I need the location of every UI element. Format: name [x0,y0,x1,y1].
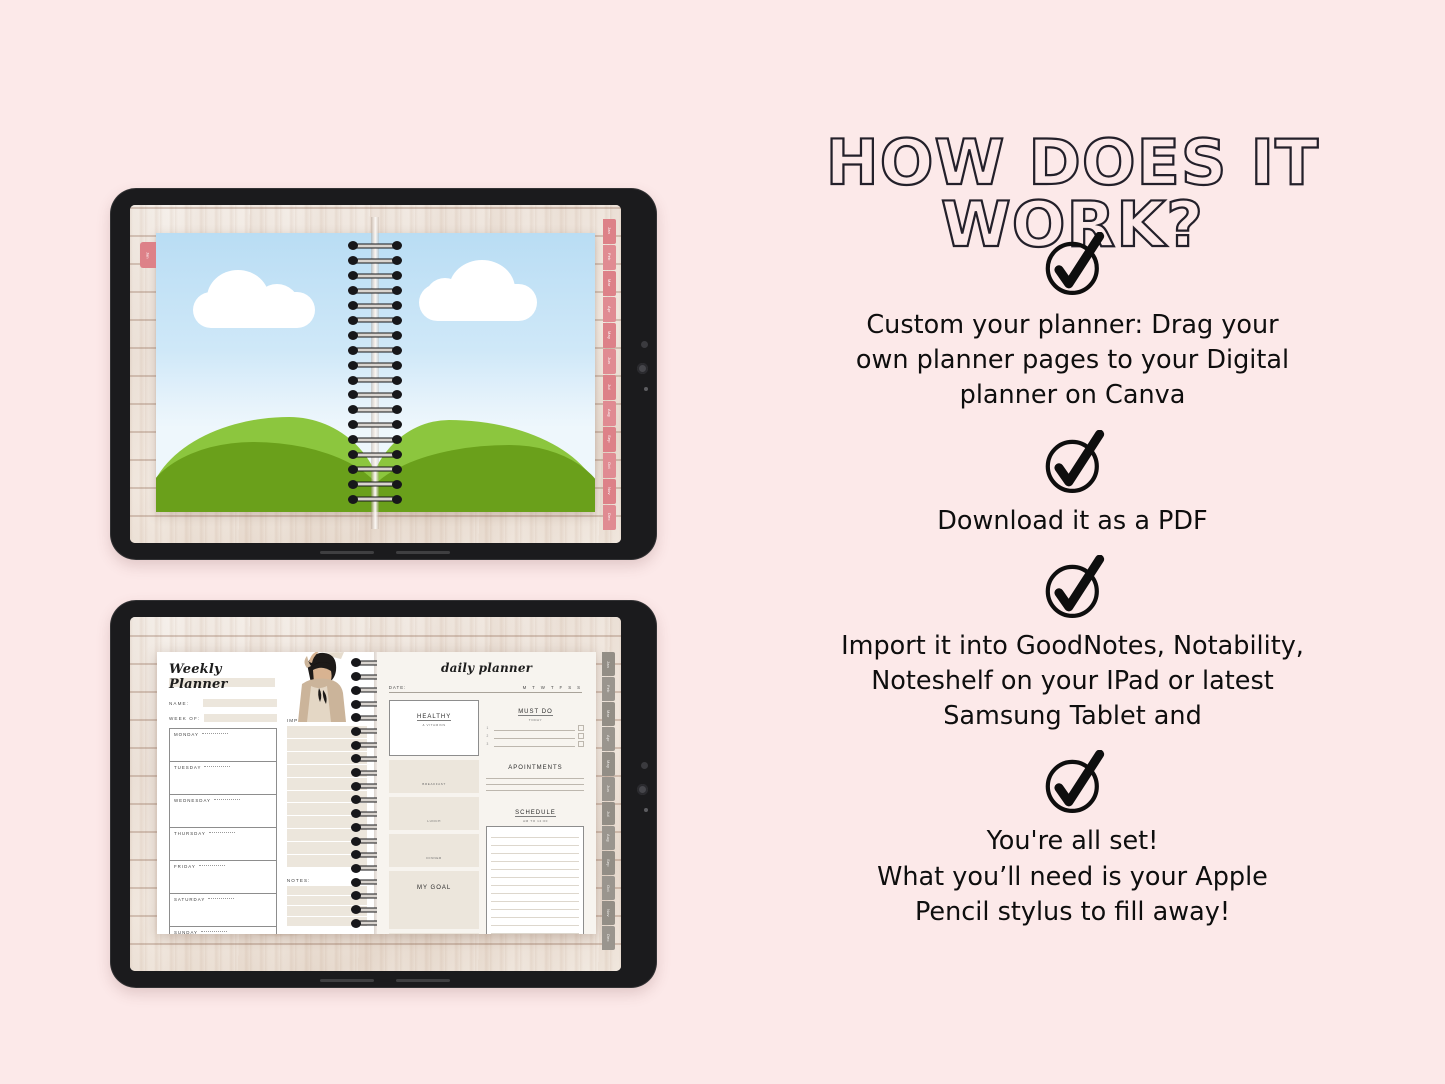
month-tab[interactable]: Dec [602,926,615,950]
spiral-ring [348,450,402,459]
camera-dot-icon [641,762,648,769]
week-of-field-row[interactable]: WEEK OF: [169,714,277,722]
planner-cover-spread [156,233,595,512]
must-do-row[interactable]: 1 [486,725,584,731]
month-tab[interactable]: Mar [602,702,615,726]
month-tab[interactable]: Aug [602,826,615,850]
healthy-sublabel: & VITAMINS [390,723,479,727]
month-tab[interactable]: Feb [603,245,616,270]
check-circle-icon [1038,750,1108,820]
check-circle-icon [1038,555,1108,625]
spiral-ring [351,686,377,695]
day-row[interactable]: SATURDAY [170,894,276,927]
schedule-header: SCHEDULE AM TO 12:00 [486,801,584,823]
must-do-label: MUST DO [518,709,553,716]
spiral-ring [348,495,402,504]
tablet-screen: Weekly Planner NAME: WEEK OF: MONDAY TUE… [130,617,621,971]
day-row[interactable]: MONDAY [170,729,276,762]
spiral-ring [351,741,377,750]
month-tab[interactable]: Oct [603,453,616,478]
spiral-ring [348,256,402,265]
spiral-ring [348,301,402,310]
month-tab[interactable]: Mar [603,271,616,296]
month-tab[interactable]: Jul [603,375,616,400]
month-tab[interactable]: May [602,752,615,776]
month-tab[interactable]: Oct [602,876,615,900]
steps-list: Custom your planner: Drag your own plann… [700,232,1445,930]
speaker-grille [396,979,450,982]
camera-lens-icon [637,363,648,374]
name-label: NAME: [169,701,199,706]
step-item: Download it as a PDF [700,430,1445,539]
month-tab[interactable]: Nov [602,901,615,925]
month-tab[interactable]: Jan [602,652,615,676]
appointments-header: APOINTMENTS [486,756,584,774]
spiral-ring [351,700,377,709]
must-do-header: MUST DO TODAY [486,700,584,722]
cover-page-left [156,233,375,512]
my-goal-label: MY GOAL [417,885,451,891]
tablet-screen: Jan [130,205,621,543]
weekday-initials[interactable]: M T W T F S S [523,685,583,690]
month-tab[interactable]: Jun [602,777,615,801]
day-row[interactable]: SUNDAY [170,927,276,933]
spiral-ring [348,271,402,280]
tablet-planner-mockup: Weekly Planner NAME: WEEK OF: MONDAY TUE… [110,600,657,988]
dinner-block[interactable]: DINNER [389,834,480,867]
weekday-grid: MONDAY TUESDAY WEDNESDAY THURSDAY FRIDAY… [169,728,277,933]
step-text: Download it as a PDF [937,504,1207,539]
must-do-sublabel: TODAY [486,718,584,722]
step-text: You're all set! What you’ll need is your… [877,824,1268,930]
daily-left-column: HEALTHY & VITAMINS BREAKFAST LUNCH DINNE… [389,700,480,933]
spiral-ring [351,823,377,832]
spiral-ring [351,919,377,928]
month-tab-strip[interactable]: Jan Feb Mar Apr May Jun Jul Aug Sep Oct … [602,652,615,949]
month-tab[interactable]: Jan [603,219,616,244]
spiral-ring [351,754,377,763]
month-tab[interactable]: Apr [602,727,615,751]
spiral-ring [351,713,377,722]
spiral-ring [351,905,377,914]
spiral-ring [351,795,377,804]
weekly-planner-title: Weekly Planner [169,662,277,692]
cloud-shape [419,284,537,321]
spiral-ring [348,390,402,399]
tab-label: Jan [145,252,150,258]
spiral-ring [351,768,377,777]
daily-planner-title: daily planner [377,652,597,675]
woman-illustration [289,652,355,722]
month-tab[interactable]: Apr [603,297,616,322]
step-item: You're all set! What you’ll need is your… [700,750,1445,930]
spiral-ring [348,405,402,414]
week-of-label: WEEK OF: [169,716,200,721]
spiral-ring [348,331,402,340]
camera-lens-icon [637,784,648,795]
breakfast-block[interactable]: BREAKFAST [389,760,480,793]
spiral-ring [351,891,377,900]
camera-flash-icon [644,808,648,812]
month-tab[interactable]: May [603,323,616,348]
camera-dot-icon [641,341,648,348]
month-tab-strip[interactable]: Jan Feb Mar Apr May Jun Jul Aug Sep Oct … [603,219,616,530]
appointments-label: APOINTMENTS [508,765,562,771]
month-tab[interactable]: Jun [603,349,616,374]
speaker-grille [320,551,374,554]
name-field-row[interactable]: NAME: [169,699,277,707]
spiral-ring [351,782,377,791]
lunch-label: LUNCH [427,819,441,823]
check-circle-icon [1038,430,1108,500]
date-row[interactable]: DATE: M T W T F S S [389,685,583,693]
spiral-ring [348,241,402,250]
dinner-label: DINNER [426,856,441,860]
cover-page-right [375,233,594,512]
appointments-lines[interactable] [486,778,584,791]
month-tab[interactable]: Sep [603,427,616,452]
month-tab[interactable]: Dec [603,505,616,530]
schedule-label: SCHEDULE [515,810,556,817]
spiral-ring [351,850,377,859]
planner-side-tab[interactable]: Jan [140,242,156,268]
date-label: DATE: [389,685,407,690]
schedule-sublabel: AM TO 12:00 [486,819,584,823]
spiral-ring [351,727,377,736]
spiral-binding [348,233,402,512]
spiral-ring [348,346,402,355]
my-goal-block[interactable]: MY GOAL [389,871,480,929]
spiral-ring [348,376,402,385]
spiral-ring [348,420,402,429]
healthy-block[interactable]: HEALTHY & VITAMINS [389,700,480,756]
daily-right-column: MUST DO TODAY 1 2 3 APOINTMENTS [486,700,584,933]
poster-canvas: Jan [0,0,1445,1084]
breakfast-label: BREAKFAST [422,782,446,786]
step-text: Import it into GoodNotes, Notability, No… [841,629,1304,735]
step-item: Custom your planner: Drag your own plann… [700,232,1445,414]
spiral-ring [351,809,377,818]
spiral-ring [348,361,402,370]
weekly-main-column: Weekly Planner NAME: WEEK OF: MONDAY TUE… [157,652,283,933]
camera-flash-icon [644,387,648,391]
spiral-ring [348,316,402,325]
day-row[interactable]: WEDNESDAY [170,795,276,828]
check-circle-icon [1038,232,1108,302]
month-tab[interactable]: Feb [602,677,615,701]
spiral-ring [351,878,377,887]
healthy-label: HEALTHY [417,714,451,721]
speaker-grille [320,979,374,982]
spiral-binding [351,652,377,933]
spiral-ring [351,658,377,667]
daily-planner-page: daily planner DATE: M T W T F S S HEALTH… [377,652,597,933]
spiral-ring [351,837,377,846]
spiral-ring [348,435,402,444]
must-do-rows[interactable]: 1 2 3 [486,725,584,747]
month-tab[interactable]: Nov [603,479,616,504]
spiral-ring [351,672,377,681]
planner-page-spread: Weekly Planner NAME: WEEK OF: MONDAY TUE… [157,652,596,933]
step-text: Custom your planner: Drag your own plann… [856,308,1289,414]
spiral-ring [348,480,402,489]
day-row[interactable]: TUESDAY [170,762,276,795]
month-tab[interactable]: Aug [603,401,616,426]
spiral-ring [348,286,402,295]
lunch-block[interactable]: LUNCH [389,797,480,830]
day-row[interactable]: FRIDAY [170,861,276,894]
spiral-ring [351,864,377,873]
tablet-cover-mockup: Jan [110,188,657,560]
speaker-grille [396,551,450,554]
daily-columns: HEALTHY & VITAMINS BREAKFAST LUNCH DINNE… [389,700,585,933]
step-item: Import it into GoodNotes, Notability, No… [700,555,1445,735]
week-of-input-blank[interactable] [204,714,277,722]
weekly-planner-page: Weekly Planner NAME: WEEK OF: MONDAY TUE… [157,652,377,933]
month-tab[interactable]: Sep [602,851,615,875]
spiral-ring [348,465,402,474]
cloud-shape [193,292,315,328]
schedule-box[interactable] [486,826,584,933]
must-do-row[interactable]: 3 [486,741,584,747]
name-input-blank[interactable] [203,699,277,707]
must-do-row[interactable]: 2 [486,733,584,739]
month-tab[interactable]: Jul [602,802,615,826]
day-row[interactable]: THURSDAY [170,828,276,861]
instructions-column: HOW DOES IT WORK? Custom your planner: D… [700,0,1445,1084]
